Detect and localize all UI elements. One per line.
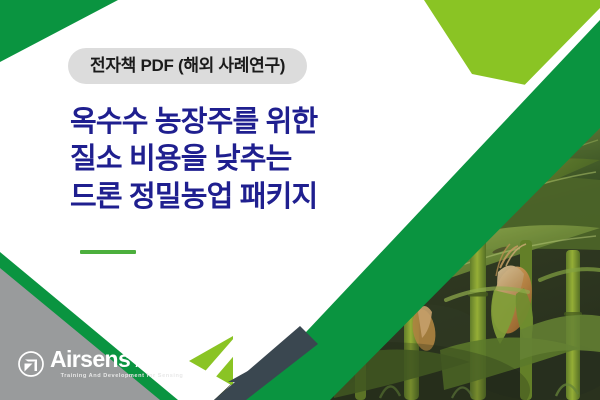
lightgreen-chevron-triangle	[189, 336, 233, 386]
logo-tagline: Training And Development for Sensing	[50, 374, 183, 380]
white-notch	[180, 330, 256, 400]
slate-wedge	[228, 328, 306, 382]
brand-logo: Airsens Academy Training And Development…	[18, 348, 183, 380]
poster-canvas: 전자책 PDF (해외 사례연구) 옥수수 농장주를 위한 질소 비용을 낮추는…	[0, 0, 600, 400]
logo-suffix: Academy	[135, 359, 183, 370]
airsens-circle-arrow-icon	[18, 351, 44, 377]
top-right-lightgreen-triangle	[424, 0, 600, 100]
title-line-3: 드론 정밀농업 패키지	[70, 179, 400, 216]
title-line-1: 옥수수 농장주를 위한	[70, 104, 400, 141]
logo-text: Airsens Academy Training And Development…	[50, 348, 183, 380]
slate-wedge-body	[214, 326, 318, 400]
poster-title: 옥수수 농장주를 위한 질소 비용을 낮추는 드론 정밀농업 패키지	[70, 104, 400, 216]
title-line-2: 질소 비용을 낮추는	[70, 141, 400, 178]
category-badge: 전자책 PDF (해외 사례연구)	[68, 48, 307, 84]
title-underline-rule	[80, 250, 136, 254]
logo-name: Airsens	[50, 348, 130, 371]
logo-wordmark-row: Airsens Academy	[50, 348, 183, 371]
